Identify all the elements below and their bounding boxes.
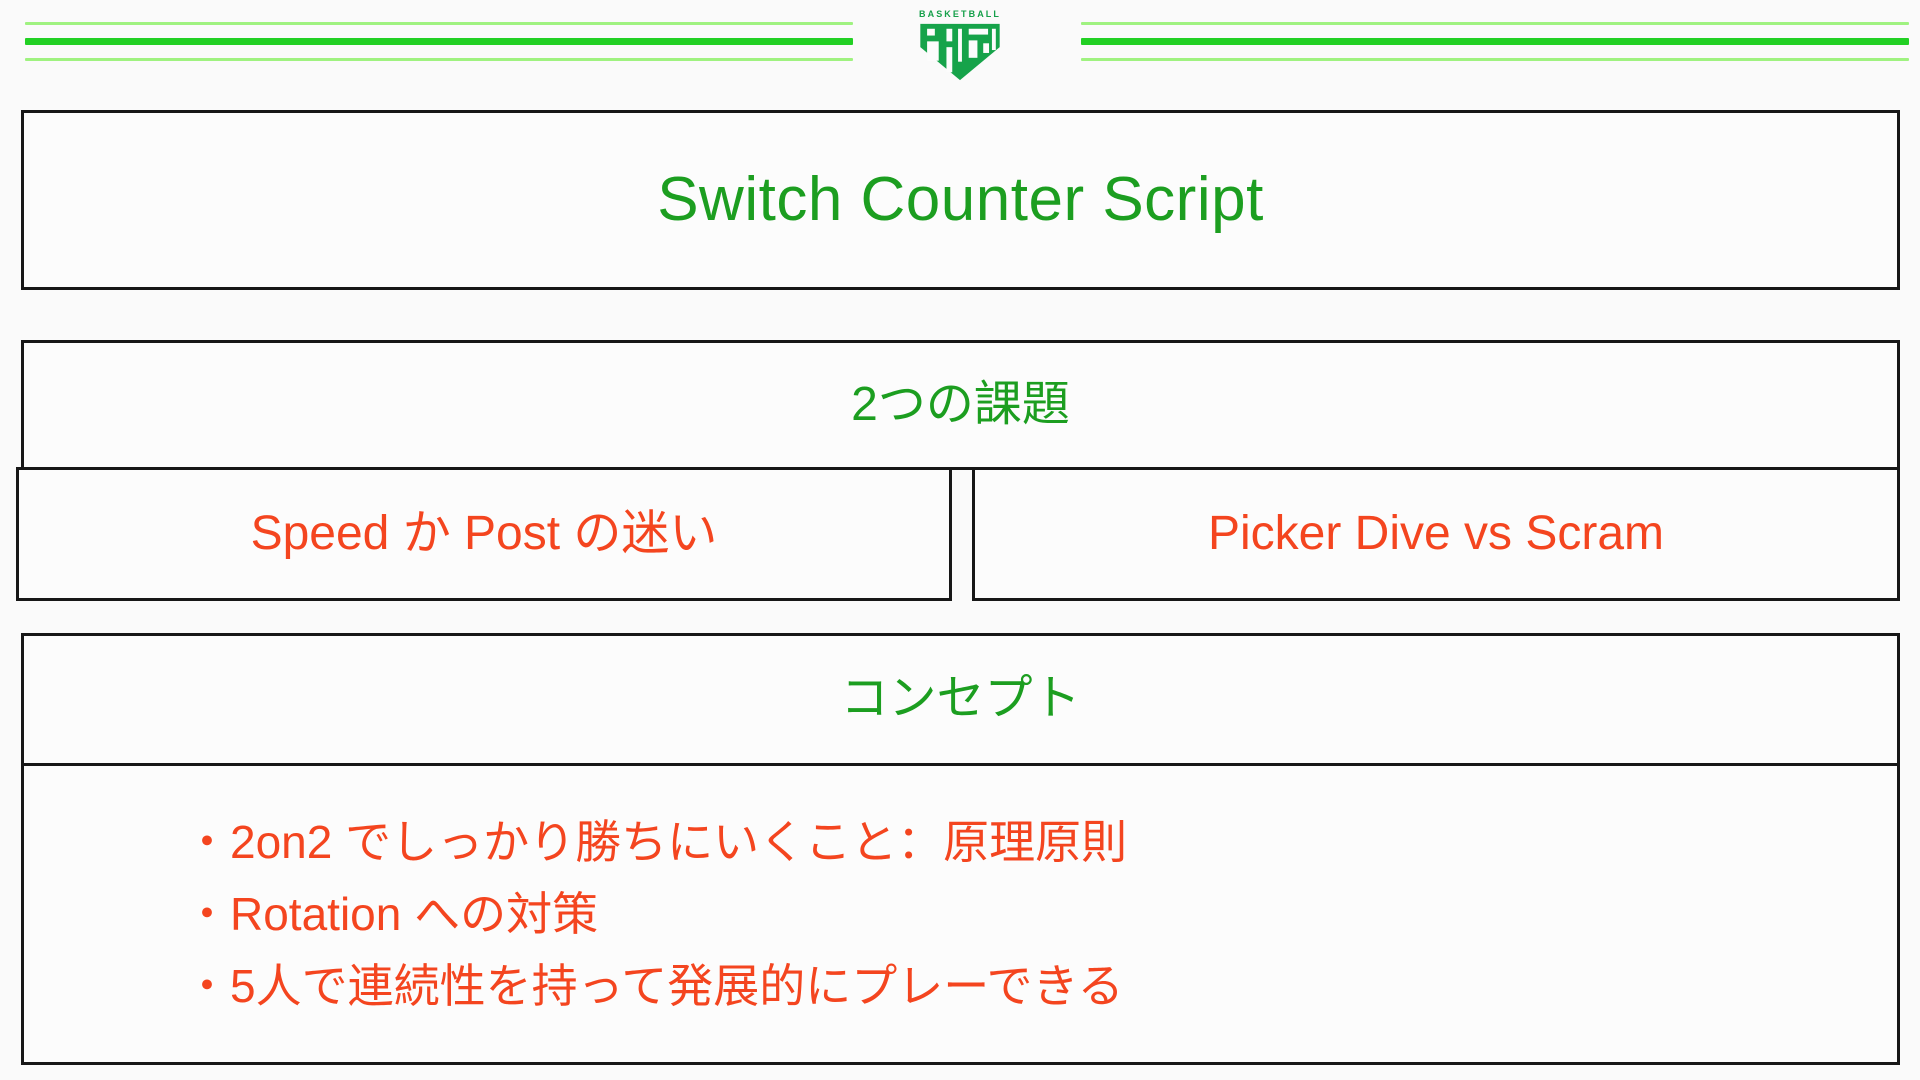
rule-thin-top-left	[25, 22, 853, 25]
slide-canvas: BASKETBALL Switch Counter Script	[0, 0, 1920, 1080]
rule-thin-top-right	[1081, 22, 1909, 25]
list-item: ・5人で連続性を持って発展的にプレーできる	[184, 952, 1127, 1020]
logo-wordmark: BASKETBALL	[919, 10, 1001, 19]
page-title: Switch Counter Script	[657, 166, 1264, 234]
issue-label: Picker Dive vs Scram	[1208, 508, 1664, 561]
concept-bullet-list: ・2on2 でしっかり勝ちにいくこと：原理原則 ・Rotation への対策 ・…	[24, 808, 1127, 1020]
concept-body-box: ・2on2 でしっかり勝ちにいくこと：原理原則 ・Rotation への対策 ・…	[21, 763, 1900, 1065]
issues-heading-box: 2つの課題	[21, 340, 1900, 470]
concept-heading: コンセプト	[840, 673, 1080, 726]
header-rule-right	[1081, 22, 1909, 66]
issues-heading: 2つの課題	[851, 379, 1070, 432]
concept-heading-box: コンセプト	[21, 633, 1900, 766]
slide-title-box: Switch Counter Script	[21, 110, 1900, 290]
list-item: ・2on2 でしっかり勝ちにいくこと：原理原則	[184, 808, 1127, 876]
rule-thick-right	[1081, 38, 1909, 45]
basketball-team-shield-icon	[917, 22, 1003, 82]
header-rule-left	[25, 22, 853, 66]
issue-label: Speed か Post の迷い	[251, 508, 718, 561]
team-logo: BASKETBALL	[906, 2, 1014, 82]
slide-header: BASKETBALL	[0, 0, 1920, 96]
issue-card-picker-dive: Picker Dive vs Scram	[972, 467, 1900, 601]
rule-thick-left	[25, 38, 853, 45]
rule-thin-bottom-right	[1081, 58, 1909, 61]
issue-card-speed-post: Speed か Post の迷い	[16, 467, 952, 601]
rule-thin-bottom-left	[25, 58, 853, 61]
list-item: ・Rotation への対策	[184, 880, 1127, 948]
